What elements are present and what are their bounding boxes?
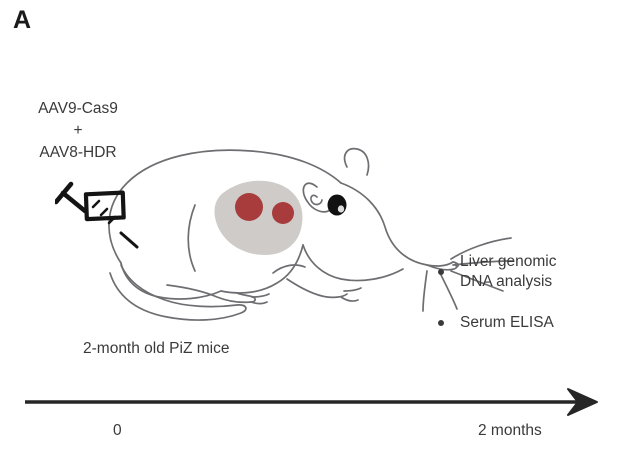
mouse-front-leg xyxy=(287,279,347,297)
list-item: Liver genomic DNA analysis xyxy=(438,252,626,293)
readout-list: Liver genomic DNA analysis Serum ELISA xyxy=(438,252,626,353)
readout-label-serum-elisa: Serum ELISA xyxy=(460,313,554,333)
vector-combiner-plus: + xyxy=(8,120,148,142)
mouse-ear-inner-curl xyxy=(311,195,322,204)
timeline-tick-end: 2 months xyxy=(478,422,542,440)
panel-label: A xyxy=(13,8,31,33)
mouse-eye-highlight xyxy=(338,205,344,212)
mouse-front-toe-2 xyxy=(344,288,361,291)
mouse-eye xyxy=(328,195,347,216)
mouse-jaw xyxy=(303,245,403,281)
mouse-head xyxy=(341,183,453,266)
readout-label-liver-dna: Liver genomic DNA analysis xyxy=(460,252,557,293)
syringe-needle xyxy=(121,233,137,247)
mouse-whisker-5 xyxy=(423,271,427,311)
liver-lesion-2 xyxy=(272,202,294,224)
readout-line: DNA analysis xyxy=(460,273,552,290)
timeline-tick-start: 0 xyxy=(113,422,122,440)
bullet-dot-icon xyxy=(438,269,444,275)
bullet-dot-icon xyxy=(438,320,444,326)
mouse-ear-upper xyxy=(345,149,369,175)
syringe-plunger-rod xyxy=(63,193,85,211)
cohort-label: 2-month old PiZ mice xyxy=(83,340,229,358)
list-item: Serum ELISA xyxy=(438,313,626,333)
figure-panel-a: A AAV9-Cas9 + AAV8-HDR xyxy=(0,0,626,464)
vector-label-aav9-cas9: AAV9-Cas9 xyxy=(8,98,148,120)
mouse-front-toe-1 xyxy=(341,297,358,301)
mouse-forearm xyxy=(273,265,305,273)
mouse-hind-toe-1 xyxy=(251,302,267,304)
readout-line: Liver genomic xyxy=(460,253,557,270)
mouse-flank-line xyxy=(188,205,195,271)
mouse-hind-toe-2 xyxy=(252,294,269,297)
liver-lesion-1 xyxy=(235,193,263,221)
